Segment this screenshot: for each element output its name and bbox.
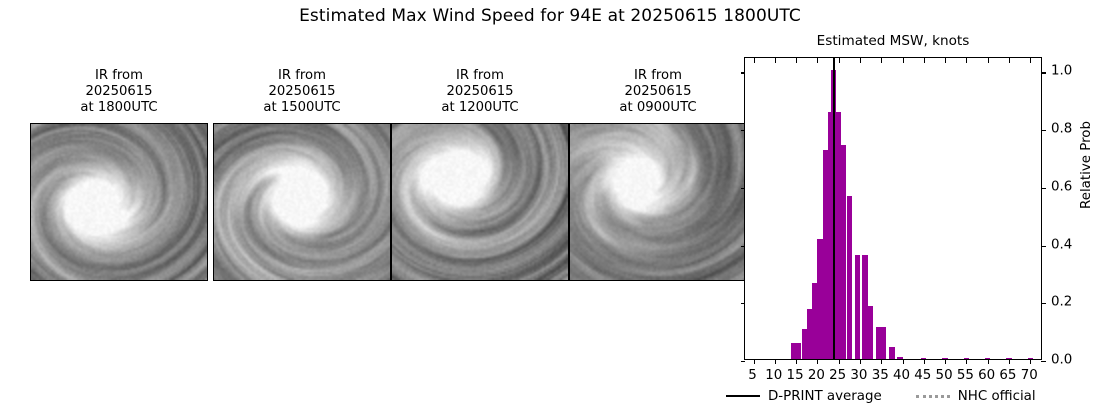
x-axis-tick xyxy=(754,359,755,364)
y-axis-tick-right xyxy=(1041,188,1046,189)
y-axis-tick xyxy=(741,361,746,362)
y-axis-tick-right xyxy=(1041,361,1046,362)
y-axis-label: Relative Prob xyxy=(1079,121,1094,209)
ir-satellite-image xyxy=(30,123,208,281)
x-axis-tick-top xyxy=(903,58,904,63)
y-axis-tick-label: 0.2 xyxy=(1051,295,1072,310)
x-axis-tick-top xyxy=(988,58,989,63)
x-axis-tick-label: 20 xyxy=(808,368,825,383)
x-axis-tick-label: 10 xyxy=(765,368,782,383)
x-axis-tick xyxy=(1009,359,1010,364)
x-axis-tick-top xyxy=(839,58,840,63)
histogram-bar xyxy=(847,196,852,359)
y-axis-tick xyxy=(741,303,746,304)
x-axis-tick-label: 15 xyxy=(787,368,804,383)
x-axis-tick-label: 45 xyxy=(914,368,931,383)
x-axis-tick-top xyxy=(775,58,776,63)
histogram-bar xyxy=(807,309,812,360)
x-axis-tick xyxy=(839,359,840,364)
y-axis-tick-right xyxy=(1041,130,1046,131)
y-axis-tick xyxy=(741,188,746,189)
x-axis-tick xyxy=(966,359,967,364)
chart-legend: D-PRINT average NHC official xyxy=(726,386,1086,406)
legend-item-nhc-official: NHC official xyxy=(916,389,1036,404)
y-axis-tick-label: 0.0 xyxy=(1051,353,1072,368)
histogram-bar xyxy=(868,306,873,359)
x-axis-tick-label: 55 xyxy=(957,368,974,383)
ir-panel-caption: IR from 20250615 at 1500UTC xyxy=(213,68,391,117)
x-axis-tick-label: 25 xyxy=(829,368,846,383)
x-axis-tick xyxy=(775,359,776,364)
x-axis-tick-top xyxy=(945,58,946,63)
x-axis-tick xyxy=(903,359,904,364)
x-axis-tick-top xyxy=(1009,58,1010,63)
x-axis-tick-label: 65 xyxy=(999,368,1016,383)
y-axis-tick xyxy=(741,72,746,73)
ir-satellite-image xyxy=(213,123,391,281)
x-axis-tick xyxy=(860,359,861,364)
x-axis-tick xyxy=(1030,359,1031,364)
histogram-bar xyxy=(855,255,860,359)
y-axis-tick-label: 0.4 xyxy=(1051,237,1072,252)
x-axis-tick-label: 35 xyxy=(872,368,889,383)
ir-satellite-image xyxy=(569,123,747,281)
histogram-bar xyxy=(817,239,822,359)
x-axis-tick-label: 30 xyxy=(850,368,867,383)
histogram-bar xyxy=(841,145,846,359)
x-axis-tick-label: 70 xyxy=(1021,368,1038,383)
legend-label: D-PRINT average xyxy=(768,389,882,404)
y-axis-tick xyxy=(741,246,746,247)
ir-panel-1800utc: IR from 20250615 at 1800UTC xyxy=(30,68,208,281)
y-axis-tick-right xyxy=(1041,72,1046,73)
x-axis-tick-top xyxy=(881,58,882,63)
histogram-axes xyxy=(744,57,1042,360)
dprint-average-line xyxy=(833,58,835,359)
histogram-bar xyxy=(796,343,801,359)
ir-panel-1200utc: IR from 20250615 at 1200UTC xyxy=(391,68,569,281)
x-axis-tick-label: 60 xyxy=(978,368,995,383)
x-axis-tick-label: 50 xyxy=(936,368,953,383)
x-axis-tick-top xyxy=(860,58,861,63)
legend-label: NHC official xyxy=(958,389,1036,404)
ir-satellite-image xyxy=(391,123,569,281)
solid-line-swatch-icon xyxy=(726,395,760,397)
histogram-bar xyxy=(889,347,894,359)
chart-title: Estimated MSW, knots xyxy=(744,33,1042,49)
y-axis-tick-label: 0.6 xyxy=(1051,179,1072,194)
ir-panel-caption: IR from 20250615 at 1800UTC xyxy=(30,68,208,117)
x-axis-tick-label: 40 xyxy=(893,368,910,383)
histogram-plot-area xyxy=(745,58,1041,359)
y-axis-tick xyxy=(741,130,746,131)
ir-panel-0900utc: IR from 20250615 at 0900UTC xyxy=(569,68,747,281)
x-axis-tick-top xyxy=(817,58,818,63)
legend-item-dprint-average: D-PRINT average xyxy=(726,389,882,404)
y-axis-tick-right xyxy=(1041,246,1046,247)
x-axis-tick xyxy=(796,359,797,364)
y-axis-tick-label: 0.8 xyxy=(1051,122,1072,137)
x-axis-tick xyxy=(945,359,946,364)
x-axis-tick xyxy=(881,359,882,364)
page-title: Estimated Max Wind Speed for 94E at 2025… xyxy=(0,6,1100,26)
ir-panel-caption: IR from 20250615 at 1200UTC xyxy=(391,68,569,117)
x-axis-tick xyxy=(924,359,925,364)
dotted-line-swatch-icon xyxy=(916,395,950,398)
x-axis-tick-label: 5 xyxy=(748,368,757,383)
histogram-bar xyxy=(862,255,867,359)
ir-panel-1500utc: IR from 20250615 at 1500UTC xyxy=(213,68,391,281)
x-axis-tick-top xyxy=(796,58,797,63)
y-axis-tick-right xyxy=(1041,303,1046,304)
x-axis-tick-top xyxy=(966,58,967,63)
x-axis-tick-top xyxy=(924,58,925,63)
x-axis-tick-top xyxy=(754,58,755,63)
y-axis-tick-label: 1.0 xyxy=(1051,64,1072,79)
ir-panel-caption: IR from 20250615 at 0900UTC xyxy=(569,68,747,117)
x-axis-tick-top xyxy=(1030,58,1031,63)
x-axis-tick xyxy=(988,359,989,364)
x-axis-tick xyxy=(817,359,818,364)
histogram-bar xyxy=(881,327,886,359)
